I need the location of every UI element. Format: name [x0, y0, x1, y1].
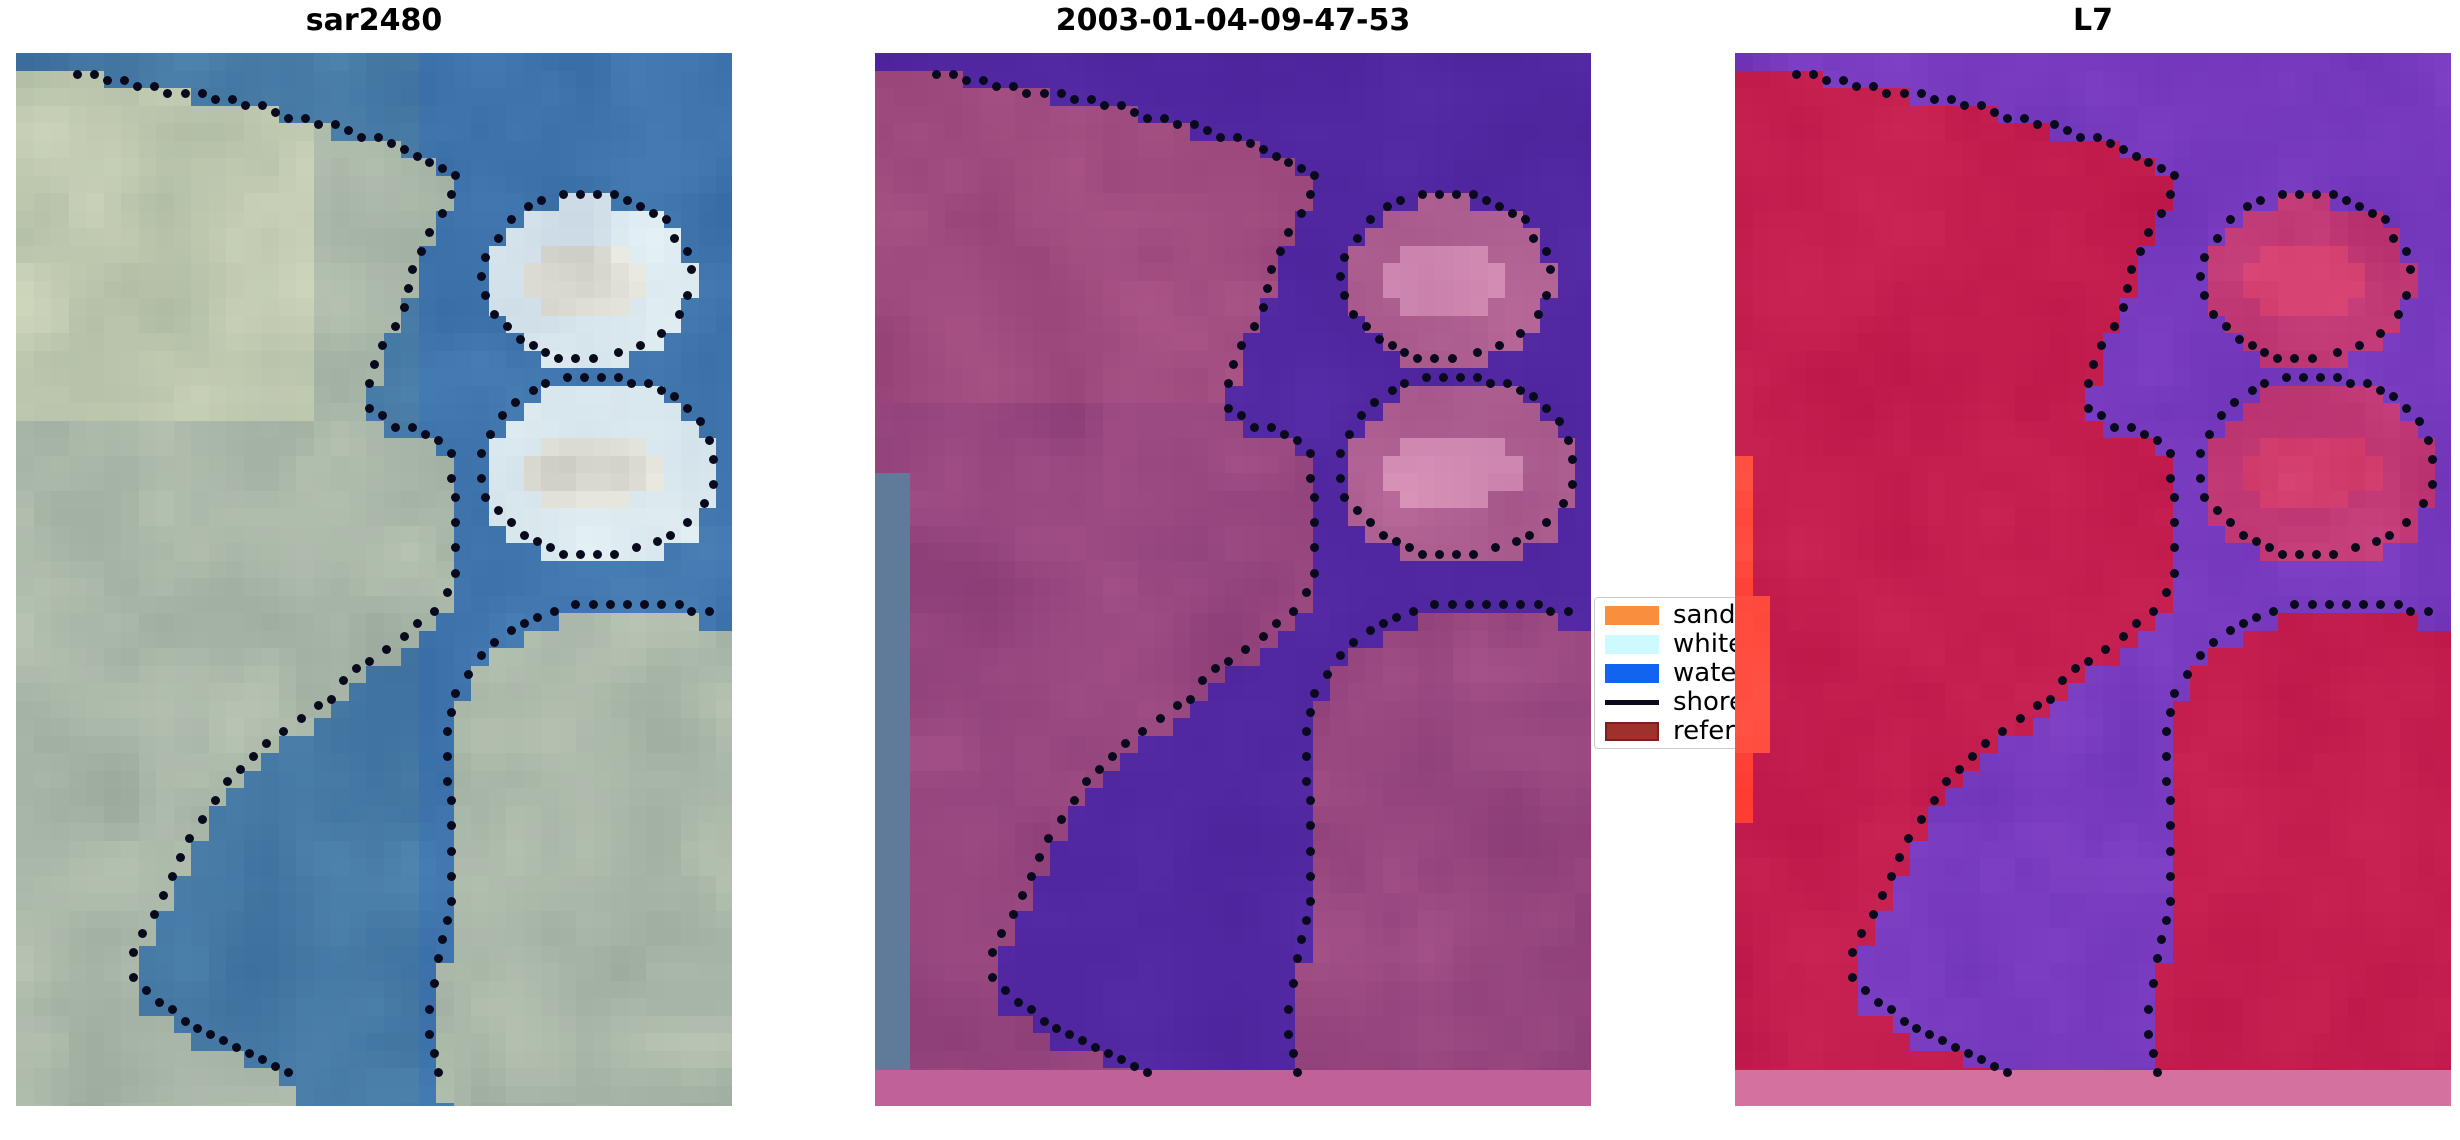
shoreline-dot — [1310, 569, 1319, 578]
shoreline-dot — [129, 948, 138, 957]
shoreline-dot — [447, 449, 456, 458]
shoreline-dot — [1564, 607, 1573, 616]
shoreline-dot — [2166, 449, 2175, 458]
shoreline-dot — [413, 619, 422, 628]
shoreline-dot — [2260, 348, 2269, 357]
shoreline-dot — [451, 689, 460, 698]
shoreline-dot — [430, 979, 439, 988]
shoreline-dot — [1259, 632, 1268, 641]
shoreline-dot — [357, 133, 366, 142]
shoreline-dot — [503, 322, 512, 331]
shoreline-dot — [2269, 607, 2278, 616]
shoreline-dot — [662, 215, 671, 224]
shoreline-dot — [1964, 1049, 1973, 1058]
shoreline-dot — [73, 70, 82, 79]
shoreline-dot — [2076, 133, 2085, 142]
shoreline-dot — [2209, 310, 2218, 319]
shoreline-dot — [563, 373, 572, 382]
shoreline-dot — [2149, 1049, 2158, 1058]
shoreline-dot — [2093, 133, 2102, 142]
shoreline-dot — [2196, 474, 2205, 483]
shoreline-dot — [2394, 310, 2403, 319]
shoreline-dot — [2166, 190, 2175, 199]
shoreline-dot — [352, 664, 361, 673]
shoreline-dot — [1848, 948, 1857, 957]
shoreline-dot — [451, 493, 460, 502]
shoreline-dot — [138, 929, 147, 938]
shoreline-dot — [2119, 145, 2128, 154]
shoreline-dot — [1216, 133, 1225, 142]
shoreline-dot — [2402, 247, 2411, 256]
shoreline-dot — [2252, 537, 2261, 546]
shoreline-dot — [1336, 449, 1345, 458]
shoreline-dot — [1310, 171, 1319, 180]
shoreline-dot — [443, 752, 452, 761]
shoreline-dot — [2265, 543, 2274, 552]
shoreline-dot — [198, 89, 207, 98]
shoreline-dot — [1336, 651, 1345, 660]
shoreline-dot — [1297, 209, 1306, 218]
shoreline-dot — [1293, 1068, 1302, 1077]
shoreline-dot — [1947, 95, 1956, 104]
shoreline-dot — [2144, 1005, 2153, 1014]
shoreline-dot — [443, 727, 452, 736]
shoreline-dot — [507, 626, 516, 635]
shoreline-dot — [1887, 1005, 1896, 1014]
shoreline-dot — [241, 101, 250, 110]
shoreline-dot — [2235, 335, 2244, 344]
shoreline-dot — [1336, 474, 1345, 483]
shoreline-dot — [1160, 114, 1169, 123]
shoreline-dot — [2183, 670, 2192, 679]
shoreline-dot — [1156, 714, 1165, 723]
shoreline-dot — [155, 998, 164, 1007]
shoreline-dot — [370, 360, 379, 369]
shoreline-dot — [541, 348, 550, 357]
shoreline-dot — [2149, 607, 2158, 616]
shoreline-dot — [1104, 1049, 1113, 1058]
shoreline-dot — [1237, 411, 1246, 420]
shoreline-dot — [417, 247, 426, 256]
shoreline-dot — [2278, 550, 2287, 559]
shoreline-dot — [1190, 120, 1199, 129]
shoreline-dot — [1306, 449, 1315, 458]
shoreline-dot — [331, 120, 340, 129]
shoreline-dot — [1306, 897, 1315, 906]
shoreline-dot — [438, 209, 447, 218]
shoreline-dot — [2162, 727, 2171, 736]
shoreline-dot — [279, 727, 288, 736]
shoreline-dot — [1900, 89, 1909, 98]
shoreline-dot — [1070, 95, 1079, 104]
shoreline-dot — [1306, 708, 1315, 717]
shoreline-dot — [2071, 664, 2080, 673]
shoreline-dot — [1272, 619, 1281, 628]
shoreline-dot — [576, 190, 585, 199]
shoreline-dot — [709, 455, 718, 464]
shoreline-dot — [1040, 89, 1049, 98]
shoreline-dot — [1456, 373, 1465, 382]
legend-swatch-sand — [1605, 606, 1659, 625]
shoreline-dot — [1900, 1017, 1909, 1026]
shoreline-dot — [1977, 101, 1986, 110]
shoreline-dot — [2020, 114, 2029, 123]
shoreline-dot — [2132, 619, 2141, 628]
shoreline-dot — [434, 436, 443, 445]
shoreline-dot — [2200, 253, 2209, 262]
shoreline-dot — [271, 1062, 280, 1071]
shoreline-dot — [1491, 543, 1500, 552]
shoreline-dot — [1469, 550, 1478, 559]
shoreline-dot — [2119, 632, 2128, 641]
shoreline-dot — [378, 411, 387, 420]
shoreline-dot — [1173, 120, 1182, 129]
shoreline-dot — [2003, 114, 2012, 123]
shoreline-dot — [1241, 645, 1250, 654]
shoreline-dot — [2205, 430, 2214, 439]
shoreline-dot — [1568, 455, 1577, 464]
shoreline-dot — [1117, 101, 1126, 110]
shoreline-dot — [2196, 449, 2205, 458]
shoreline-dot — [1452, 190, 1461, 199]
shoreline-dot — [490, 638, 499, 647]
shoreline-dot — [2162, 916, 2171, 925]
shoreline-dot — [1448, 600, 1457, 609]
shoreline-dot — [477, 474, 486, 483]
shoreline-dot — [529, 386, 538, 395]
shoreline-dot — [1306, 190, 1315, 199]
shoreline-dot — [198, 815, 207, 824]
shoreline-dot — [1516, 329, 1525, 338]
shoreline-dot — [2140, 430, 2149, 439]
shoreline-dot — [1246, 139, 1255, 148]
shoreline-dot — [129, 973, 138, 982]
shoreline-dot — [481, 291, 490, 300]
shoreline-dot — [1960, 101, 1969, 110]
shoreline-dot — [2312, 190, 2321, 199]
legend-swatch-reference — [1605, 722, 1659, 741]
shoreline-dot — [387, 139, 396, 148]
shoreline-dot — [1418, 550, 1427, 559]
shoreline-dot — [593, 550, 602, 559]
shoreline-dot — [2162, 752, 2171, 761]
shoreline-dot — [1018, 891, 1027, 900]
legend-swatch-water — [1605, 664, 1659, 683]
shoreline-dot — [2166, 872, 2175, 881]
shoreline-dot — [1930, 95, 1939, 104]
shoreline-dot — [610, 550, 619, 559]
shoreline-dot — [1306, 474, 1315, 483]
shoreline-dot — [447, 708, 456, 717]
shoreline-dot — [537, 196, 546, 205]
shoreline-dot — [1211, 664, 1220, 673]
shoreline-dot — [1143, 1068, 1152, 1077]
shoreline-dot — [2149, 979, 2158, 988]
shoreline-dot — [443, 588, 452, 597]
shoreline-dot — [1027, 872, 1036, 881]
shoreline-dot — [533, 537, 542, 546]
shoreline-dot — [430, 607, 439, 616]
shoreline-dot — [546, 543, 555, 552]
shoreline-dot — [2162, 588, 2171, 597]
shoreline-dot — [576, 550, 585, 559]
shoreline-dot — [1340, 291, 1349, 300]
shoreline-dot — [932, 70, 941, 79]
shoreline-dot — [2166, 708, 2175, 717]
shoreline-dot — [1014, 998, 1023, 1007]
shoreline-dot — [400, 632, 409, 641]
shoreline-dot — [2170, 493, 2179, 502]
shoreline-dot — [1409, 607, 1418, 616]
shoreline-dot — [413, 152, 422, 161]
shoreline-dot — [1100, 101, 1109, 110]
shoreline-dot — [2132, 152, 2141, 161]
shoreline-dot — [1289, 607, 1298, 616]
shoreline-dot — [1990, 1062, 1999, 1071]
shoreline-dot — [451, 569, 460, 578]
shoreline-dot — [494, 234, 503, 243]
shoreline-dot — [1379, 531, 1388, 540]
shoreline-dot — [284, 1068, 293, 1077]
shoreline-dot — [1349, 310, 1358, 319]
shoreline-dot — [1306, 872, 1315, 881]
shoreline-dot — [2153, 1068, 2162, 1077]
shoreline-dot — [2213, 506, 2222, 515]
shoreline-dot — [2136, 247, 2145, 256]
shoreline-dot — [988, 948, 997, 957]
shoreline-dot — [211, 95, 220, 104]
shoreline-dot — [1001, 986, 1010, 995]
shoreline-dot — [580, 373, 589, 382]
shoreline-dot — [687, 607, 696, 616]
shoreline-dot — [533, 613, 542, 622]
shoreline-dot — [1977, 1055, 1986, 1064]
shoreline-dot — [2368, 209, 2377, 218]
shoreline-dot — [1418, 190, 1427, 199]
panel-title-classified: 2003-01-04-09-47-53 — [875, 6, 1591, 36]
shoreline-dot — [2196, 651, 2205, 660]
shoreline-dot — [2170, 689, 2179, 698]
shoreline-dot — [1362, 322, 1371, 331]
shoreline-dot — [2166, 847, 2175, 856]
shoreline-dot — [1302, 752, 1311, 761]
shoreline-dot — [997, 929, 1006, 938]
shoreline-dot — [1998, 727, 2007, 736]
shoreline-dot — [1955, 765, 1964, 774]
shoreline-dot — [1302, 916, 1311, 925]
shoreline-dot — [421, 430, 430, 439]
shoreline-dot — [1469, 190, 1478, 199]
shoreline-dot — [1052, 1024, 1061, 1033]
shoreline-dot — [1302, 777, 1311, 786]
shoreline-dot — [1516, 386, 1525, 395]
shoreline-dot — [486, 430, 495, 439]
shoreline-dot — [2106, 139, 2115, 148]
shoreline-dot — [1280, 430, 1289, 439]
shoreline-dot — [477, 449, 486, 458]
shoreline-dot — [1435, 190, 1444, 199]
shoreline-dot — [2016, 714, 2025, 723]
shoreline-dot — [1930, 796, 1939, 805]
shoreline-dot — [1542, 291, 1551, 300]
shoreline-dot — [675, 600, 684, 609]
shoreline-dot — [163, 89, 172, 98]
shoreline-dot — [477, 651, 486, 660]
legend-occluder-panel3 — [1735, 585, 1805, 760]
shoreline-dot — [2376, 329, 2385, 338]
shoreline-dot — [181, 89, 190, 98]
shoreline-dot — [447, 796, 456, 805]
shoreline-dot — [1529, 392, 1538, 401]
shoreline-dot — [2089, 360, 2098, 369]
shoreline-dot — [705, 436, 714, 445]
panel-image-classified — [875, 53, 1591, 1106]
shoreline-dot — [1289, 1049, 1298, 1058]
shoreline-dot — [1529, 234, 1538, 243]
shoreline-dot — [550, 607, 559, 616]
shoreline-dot — [1284, 1005, 1293, 1014]
shoreline-dot — [477, 272, 486, 281]
shoreline-dot — [1392, 613, 1401, 622]
shoreline-dot — [2329, 190, 2338, 199]
shoreline-dot — [1310, 689, 1319, 698]
shoreline-dot — [2153, 954, 2162, 963]
shoreline-dot — [2050, 120, 2059, 129]
shoreline-dot — [2424, 436, 2433, 445]
shoreline-dot — [2046, 695, 2055, 704]
shoreline-dot — [327, 695, 336, 704]
shoreline-dot — [301, 114, 310, 123]
shoreline-dot — [1349, 638, 1358, 647]
shoreline-dot — [228, 95, 237, 104]
shoreline-dot — [2222, 322, 2231, 331]
shoreline-dot — [2239, 531, 2248, 540]
shoreline-dot — [2342, 196, 2351, 205]
shoreline-dot — [1990, 108, 1999, 117]
shoreline-dot — [193, 1024, 202, 1033]
shoreline-dot — [1452, 550, 1461, 559]
shoreline-dot — [1448, 354, 1457, 363]
shoreline-dot — [2153, 436, 2162, 445]
shoreline-dot — [2170, 569, 2179, 578]
panel-image-l7 — [1735, 53, 2451, 1106]
shoreline-dot — [1534, 310, 1543, 319]
shoreline-dot — [2226, 626, 2235, 635]
shoreline-dot — [1422, 373, 1431, 382]
shoreline-dot — [1388, 341, 1397, 350]
shoreline-dot — [1130, 1062, 1139, 1071]
shoreline-dot — [1400, 348, 1409, 357]
shoreline-dot — [2295, 550, 2304, 559]
shoreline-dot — [382, 645, 391, 654]
shoreline-dot — [1302, 588, 1311, 597]
shoreline-dot — [1857, 929, 1866, 938]
shoreline-dot — [1095, 765, 1104, 774]
shoreline-dot — [168, 1005, 177, 1014]
shoreline-dot — [1306, 796, 1315, 805]
shoreline-dot — [1388, 386, 1397, 395]
legend-line-shoreline — [1605, 700, 1659, 705]
shoreline-dot — [181, 1017, 190, 1026]
shoreline-dot — [1284, 228, 1293, 237]
shoreline-dot — [1482, 196, 1491, 205]
shoreline-dot — [2329, 550, 2338, 559]
shoreline-dot — [1345, 430, 1354, 439]
panel-title-l7: L7 — [1735, 6, 2451, 36]
shoreline-dot — [1878, 891, 1887, 900]
shoreline-dot — [1882, 89, 1891, 98]
shoreline-dot — [670, 392, 679, 401]
shoreline-dot — [1534, 600, 1543, 609]
shoreline-dot — [1917, 89, 1926, 98]
shoreline-dot — [1143, 114, 1152, 123]
shoreline-dot — [516, 335, 525, 344]
shoreline-dot — [142, 986, 151, 995]
panel-title-sar: sar2480 — [16, 6, 732, 36]
shoreline-dot — [705, 607, 714, 616]
shoreline-dot — [1887, 872, 1896, 881]
shoreline-dot — [1861, 986, 1870, 995]
shoreline-dot — [185, 834, 194, 843]
shoreline-dot — [1822, 76, 1831, 85]
shoreline-dot — [1809, 70, 1818, 79]
shoreline-dot — [2226, 215, 2235, 224]
shoreline-dot — [593, 190, 602, 199]
shoreline-dot — [675, 310, 684, 319]
shoreline-dot — [245, 1049, 254, 1058]
shoreline-dot — [447, 847, 456, 856]
shoreline-dot — [447, 474, 456, 483]
shoreline-dot — [949, 70, 958, 79]
shoreline-dot — [1027, 1005, 1036, 1014]
shoreline-dot — [1392, 537, 1401, 546]
shoreline-dot — [2282, 373, 2291, 382]
shoreline-dot — [1366, 215, 1375, 224]
shoreline-dot — [2394, 600, 2403, 609]
shoreline-dot — [2316, 373, 2325, 382]
shoreline-dot — [1186, 695, 1195, 704]
shoreline-dot — [610, 190, 619, 199]
shoreline-dot — [1091, 1043, 1100, 1052]
shoreline-dot — [211, 796, 220, 805]
shoreline-dot — [657, 329, 666, 338]
shoreline-dot — [2003, 1068, 2012, 1077]
shoreline-dot — [447, 190, 456, 199]
shoreline-dot — [434, 954, 443, 963]
shoreline-dot — [2308, 600, 2317, 609]
shoreline-dot — [1904, 834, 1913, 843]
shoreline-dot — [494, 506, 503, 515]
shoreline-dot — [589, 600, 598, 609]
shoreline-dot — [1439, 373, 1448, 382]
shoreline-dot — [1340, 253, 1349, 262]
shoreline-dot — [988, 973, 997, 982]
shoreline-dot — [520, 531, 529, 540]
shoreline-dot — [2166, 474, 2175, 483]
shoreline-dot — [2162, 777, 2171, 786]
shoreline-dot — [447, 897, 456, 906]
shoreline-dot — [271, 108, 280, 117]
shoreline-dot — [1040, 1017, 1049, 1026]
shoreline-dot — [2033, 120, 2042, 129]
shoreline-dot — [962, 76, 971, 85]
shoreline-dot — [1259, 145, 1268, 154]
shoreline-dot — [2166, 897, 2175, 906]
shoreline-dot — [103, 76, 112, 85]
shoreline-dot — [1917, 815, 1926, 824]
shoreline-dot — [2278, 190, 2287, 199]
shoreline-dot — [1564, 436, 1573, 445]
